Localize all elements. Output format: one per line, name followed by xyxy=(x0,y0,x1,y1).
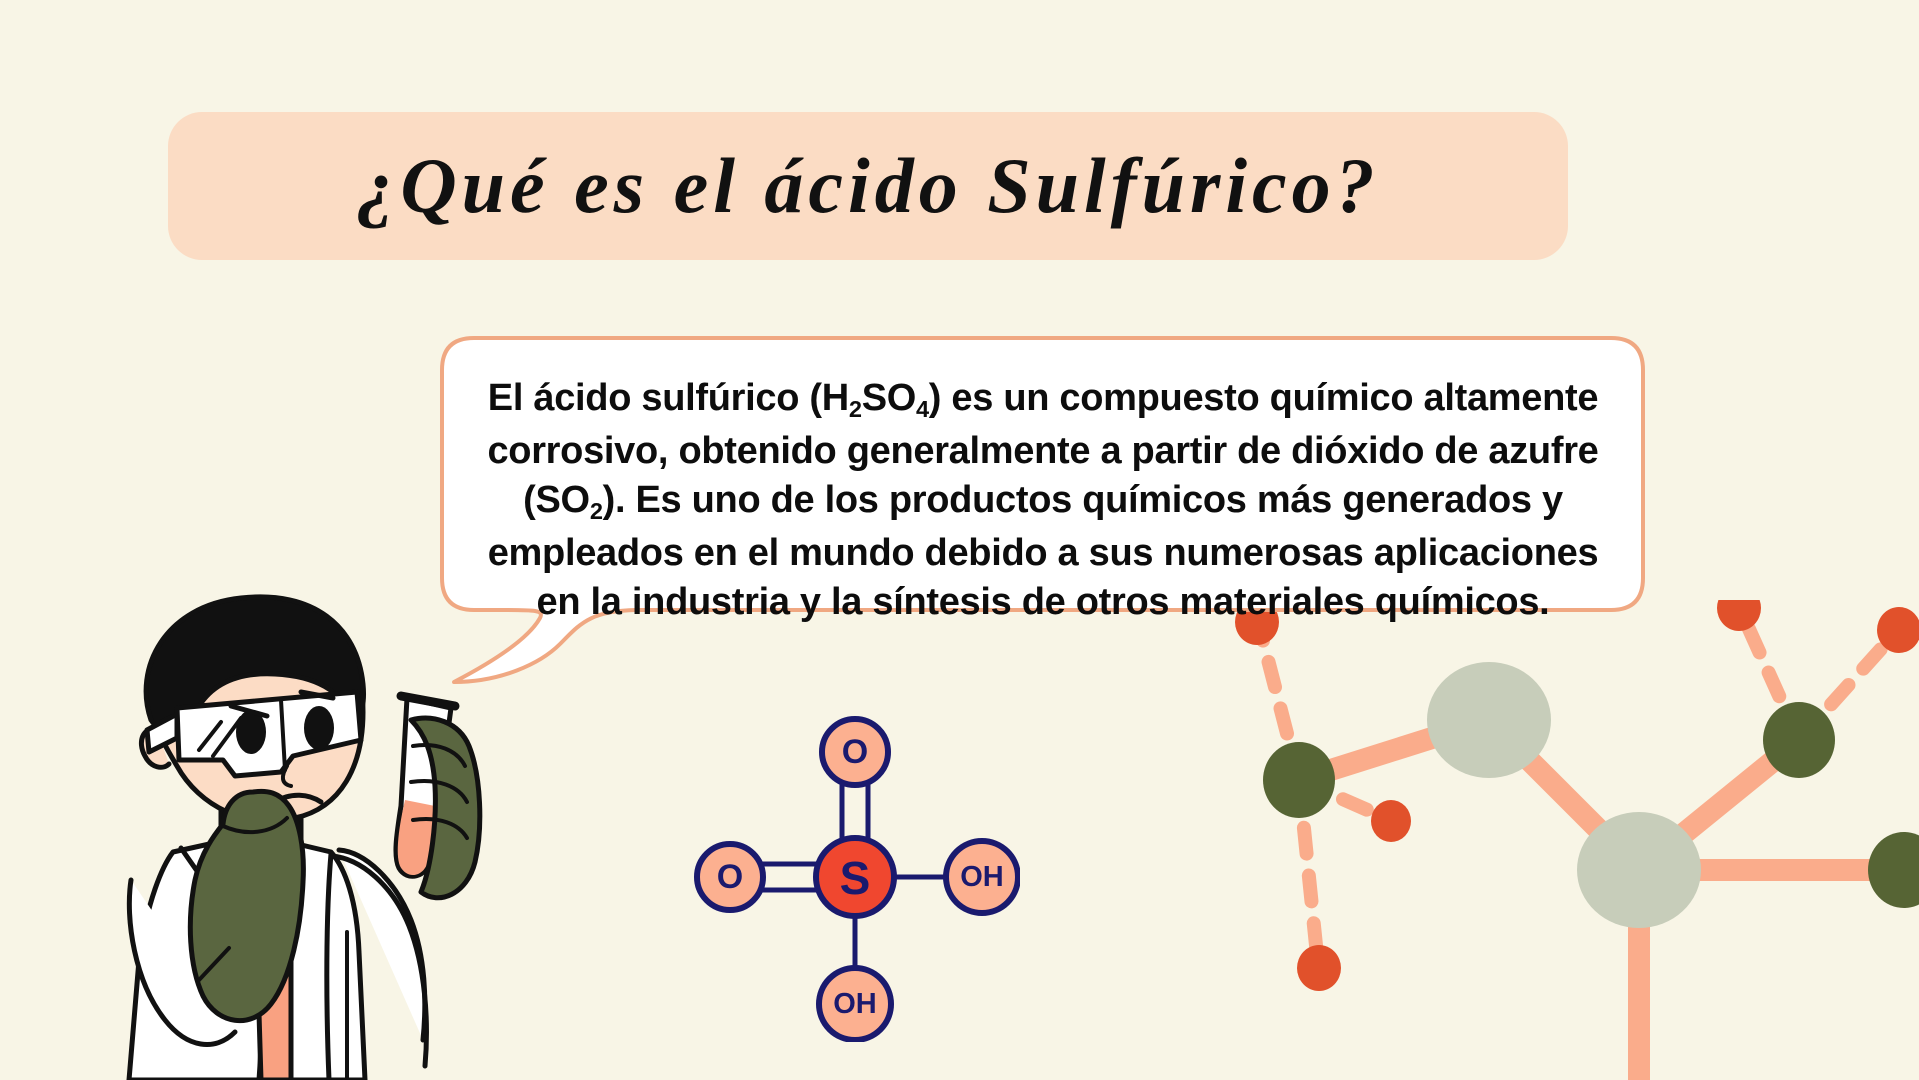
decor-bond-group xyxy=(1299,720,1899,1080)
atom-oh-bottom-label: OH xyxy=(833,988,877,1020)
slide-canvas: ¿Qué es el ácido Sulfúrico? El ácido sul… xyxy=(0,0,1919,1080)
scientist-illustration xyxy=(95,580,535,1080)
bubble-paragraph: El ácido sulfúrico (H2SO4) es un compues… xyxy=(478,374,1608,627)
decor-node-green xyxy=(1868,832,1919,908)
atom-oh-right-label: OH xyxy=(960,861,1004,893)
decor-node-green xyxy=(1763,702,1835,778)
atom-o-top-label: O xyxy=(842,733,868,771)
decor-node-red xyxy=(1371,800,1411,842)
h2so4-structural-formula: O O OH OH S xyxy=(690,712,1020,1042)
decor-node-green xyxy=(1263,742,1335,818)
atom-s-center-label: S xyxy=(840,852,871,904)
decor-node-red xyxy=(1297,945,1341,991)
eye-right xyxy=(304,706,334,750)
atom-o-left-label: O xyxy=(717,858,743,896)
decor-node-red xyxy=(1717,600,1761,631)
speech-bubble: El ácido sulfúrico (H2SO4) es un compues… xyxy=(440,336,1645,686)
page-title: ¿Qué es el ácido Sulfúrico? xyxy=(356,147,1379,225)
title-banner: ¿Qué es el ácido Sulfúrico? xyxy=(168,112,1568,260)
decor-node-large xyxy=(1577,812,1701,928)
decor-node-red xyxy=(1877,607,1919,653)
